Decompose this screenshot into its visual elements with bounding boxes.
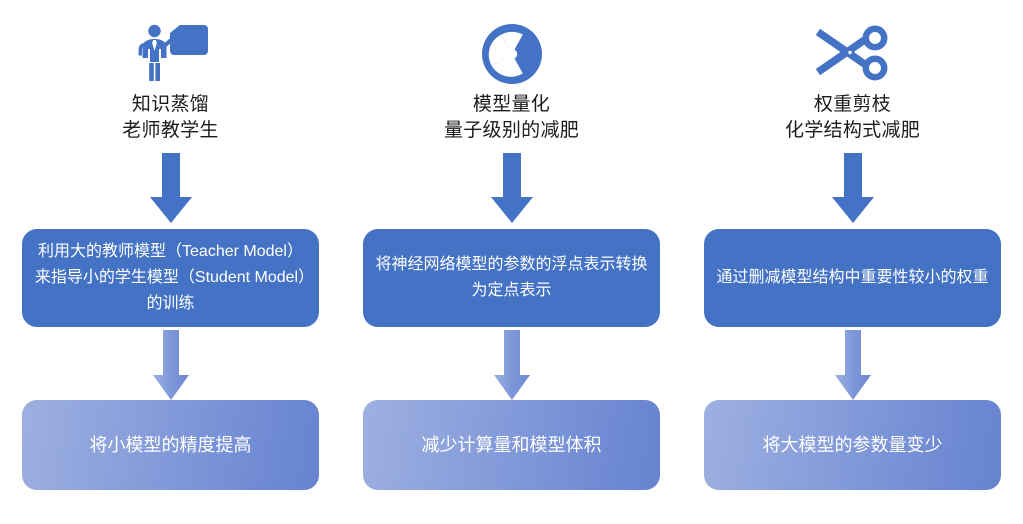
- method-description-box: 利用大的教师模型（Teacher Model）来指导小的学生模型（Student…: [22, 229, 319, 327]
- arrow-method-to-result: [486, 330, 538, 407]
- column-weight-pruning: 权重剪枝 化学结构式减肥 通过删减模型结构中重要性较小的权重: [682, 0, 1023, 524]
- result-text: 将小模型的精度提高: [34, 432, 307, 458]
- arrow-heading-to-method: [482, 153, 542, 230]
- method-description-box: 将神经网络模型的参数的浮点表示转换为定点表示: [363, 229, 660, 327]
- heading-line-2: 化学结构式减肥: [682, 118, 1023, 144]
- heading-line-2: 量子级别的减肥: [341, 118, 682, 144]
- arrow-method-to-result: [145, 330, 197, 407]
- method-description-text: 通过删减模型结构中重要性较小的权重: [716, 265, 989, 291]
- method-description-text: 利用大的教师模型（Teacher Model）来指导小的学生模型（Student…: [34, 239, 307, 317]
- column-heading: 模型量化 量子级别的减肥: [341, 92, 682, 144]
- heading-line-1: 知识蒸馏: [0, 92, 341, 118]
- result-text: 将大模型的参数量变少: [716, 432, 989, 458]
- method-description-box: 通过删减模型结构中重要性较小的权重: [704, 229, 1001, 327]
- result-text: 减少计算量和模型体积: [375, 432, 648, 458]
- arrow-heading-to-method: [823, 153, 883, 230]
- column-heading: 权重剪枝 化学结构式减肥: [682, 92, 1023, 144]
- result-box: 将小模型的精度提高: [22, 400, 319, 490]
- method-description-text: 将神经网络模型的参数的浮点表示转换为定点表示: [375, 252, 648, 304]
- result-box: 将大模型的参数量变少: [704, 400, 1001, 490]
- column-knowledge-distillation: 知识蒸馏 老师教学生 利用大的教师模型（Teacher Model）来指导小的学…: [0, 0, 341, 524]
- column-model-quantization: 模型量化 量子级别的减肥 将神经网络模型的参数的浮点表示转换为定点表示: [341, 0, 682, 524]
- heading-line-1: 模型量化: [341, 92, 682, 118]
- radiation-trefoil-icon: [341, 18, 682, 90]
- heading-line-2: 老师教学生: [0, 118, 341, 144]
- arrow-method-to-result: [827, 330, 879, 407]
- diagram-canvas: 知识蒸馏 老师教学生 利用大的教师模型（Teacher Model）来指导小的学…: [0, 0, 1023, 524]
- column-heading: 知识蒸馏 老师教学生: [0, 92, 341, 144]
- result-box: 减少计算量和模型体积: [363, 400, 660, 490]
- arrow-heading-to-method: [141, 153, 201, 230]
- heading-line-1: 权重剪枝: [682, 92, 1023, 118]
- scissors-icon: [682, 18, 1023, 90]
- teacher-presenting-icon: [0, 18, 341, 90]
